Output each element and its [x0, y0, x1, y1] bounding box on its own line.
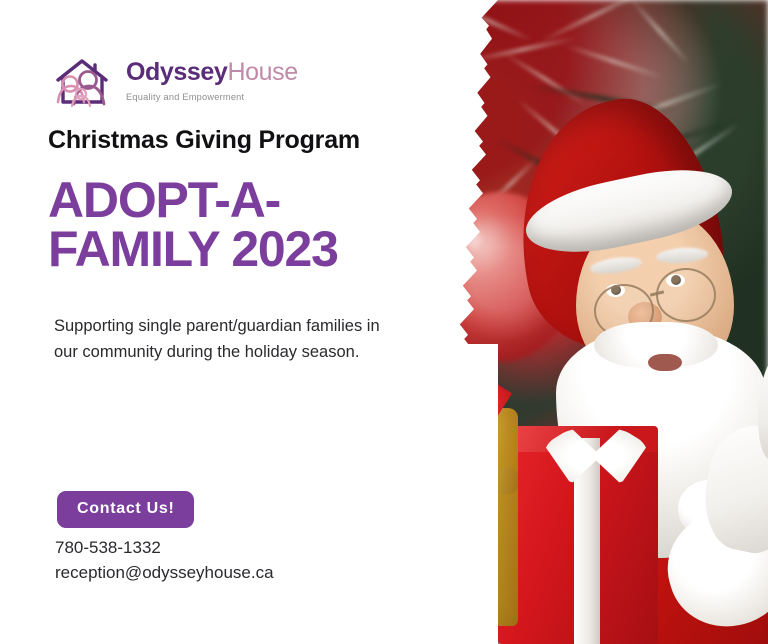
- odyssey-house-logo[interactable]: OdysseyHouse Equality and Empowerment: [48, 52, 278, 114]
- logo-name-primary: Odyssey: [126, 58, 227, 86]
- contact-email[interactable]: reception@odysseyhouse.ca: [55, 561, 274, 586]
- contact-phone[interactable]: 780-538-1332: [55, 536, 274, 561]
- contact-us-button[interactable]: Contact Us!: [57, 491, 194, 528]
- page-title: ADOPT-A-FAMILY 2023: [48, 176, 418, 274]
- poster-canvas: OdysseyHouse Equality and Empowerment Ch…: [0, 0, 768, 644]
- content-panel: OdysseyHouse Equality and Empowerment Ch…: [0, 0, 430, 644]
- contact-details: 780-538-1332 reception@odysseyhouse.ca: [55, 536, 274, 585]
- program-kicker: Christmas Giving Program: [48, 126, 360, 155]
- logo-wordmark: OdysseyHouse Equality and Empowerment: [126, 60, 298, 102]
- logo-tagline: Equality and Empowerment: [126, 92, 298, 102]
- eyeglasses-icon: [582, 262, 736, 326]
- house-with-family-icon: [48, 54, 120, 110]
- program-description: Supporting single parent/guardian famili…: [54, 314, 384, 365]
- logo-name-secondary: House: [227, 58, 297, 86]
